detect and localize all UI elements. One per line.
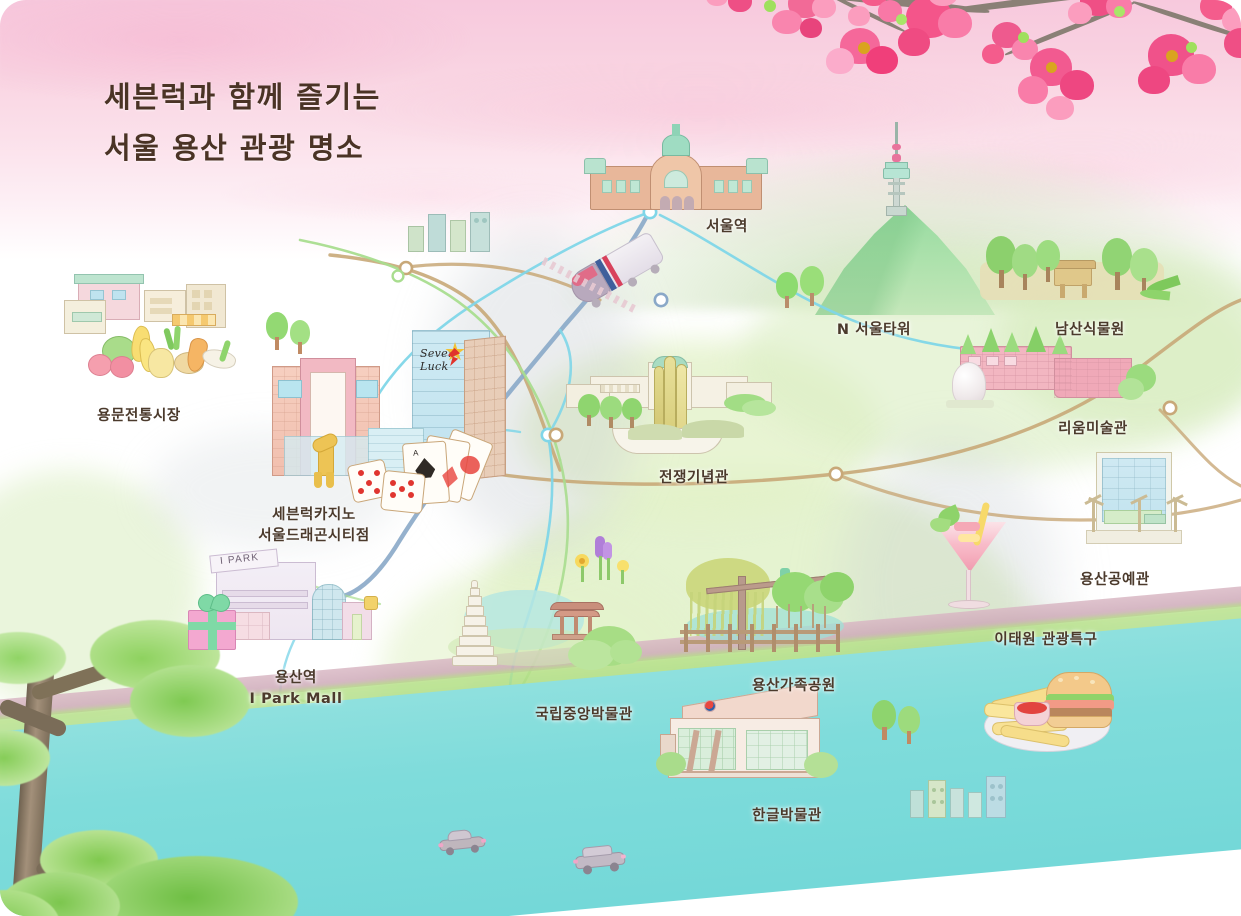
poi-label-war-memorial[interactable]: 전쟁기념관 — [659, 468, 729, 489]
tree-icon — [266, 312, 288, 350]
city-blocks-icon — [910, 774, 1006, 818]
poi-label-hangeul-museum[interactable]: 한글박물관 — [752, 806, 822, 827]
station-dot — [1164, 402, 1176, 414]
mall-icon[interactable]: I PARK — [188, 550, 378, 660]
blossom-bud — [764, 0, 776, 12]
flower-cluster-icon — [573, 536, 631, 584]
crafts-building-icon[interactable] — [1088, 452, 1192, 550]
station-dot — [830, 468, 842, 480]
pine-foliage — [130, 665, 250, 737]
burger-fries-icon — [984, 672, 1130, 758]
dice-icon — [380, 470, 426, 514]
poi-label-yongmun-market[interactable]: 용문전통시장 — [97, 406, 181, 427]
tree-icon — [776, 272, 798, 308]
memorial-icon[interactable] — [566, 350, 772, 460]
poi-label-yongsan-station[interactable]: 용산역 I Park Mall — [249, 668, 342, 710]
korean-flag-icon — [704, 700, 716, 712]
blossom-bud — [1114, 6, 1125, 17]
blossom-bud — [896, 14, 907, 25]
page-title: 세븐럭과 함께 즐기는 서울 용산 관광 명소 — [104, 72, 381, 174]
museum-icon[interactable] — [960, 330, 1160, 420]
poi-label-national-museum[interactable]: 국립중앙박물관 — [535, 705, 633, 726]
hangeul-museum-icon[interactable] — [660, 694, 836, 788]
city-blocks-icon — [408, 212, 500, 252]
tower-icon[interactable] — [880, 122, 914, 218]
blossom-bud — [1186, 42, 1197, 53]
poi-label-family-park[interactable]: 용산가족공원 — [752, 676, 836, 697]
tree-icon — [872, 700, 896, 740]
tree-icon — [898, 706, 920, 744]
poi-label-n-seoul-tower[interactable]: N 서울타워 — [837, 320, 911, 341]
cherry-blossom-branch — [700, 0, 1241, 160]
casino-icon[interactable]: Seven Luck A — [264, 316, 514, 506]
poi-label-sevenluck-casino[interactable]: 세븐럭카지노 서울드래곤시티점 — [258, 505, 370, 547]
tree-icon — [290, 320, 310, 354]
poi-label-yongsan-crafts[interactable]: 용산공예관 — [1080, 570, 1150, 591]
blossom-bud — [1018, 32, 1029, 43]
poi-label-itaewon-district[interactable]: 이태원 관광특구 — [994, 630, 1097, 651]
station-building-icon[interactable] — [572, 140, 780, 212]
poi-label-namsan-garden[interactable]: 남산식물원 — [1055, 320, 1125, 341]
car-sedan-icon — [436, 825, 488, 856]
park-icon[interactable] — [672, 546, 858, 664]
tree-icon — [800, 266, 824, 306]
poi-label-seoul-station[interactable]: 서울역 — [706, 217, 748, 238]
cocktail-icon[interactable] — [928, 506, 1012, 620]
tourist-map: 세븐럭과 함께 즐기는 서울 용산 관광 명소 — [0, 0, 1241, 916]
station-dot — [550, 429, 562, 441]
pagoda-icon[interactable] — [428, 570, 638, 688]
casino-logo: Seven Luck — [420, 344, 486, 368]
pine-foliage — [0, 632, 66, 684]
botanical-garden-icon[interactable] — [980, 236, 1170, 312]
car-suv-icon — [572, 842, 629, 875]
market-icon[interactable] — [62, 278, 232, 390]
station-dot — [393, 271, 404, 282]
poi-label-leeum-museum[interactable]: 리움미술관 — [1058, 419, 1128, 440]
